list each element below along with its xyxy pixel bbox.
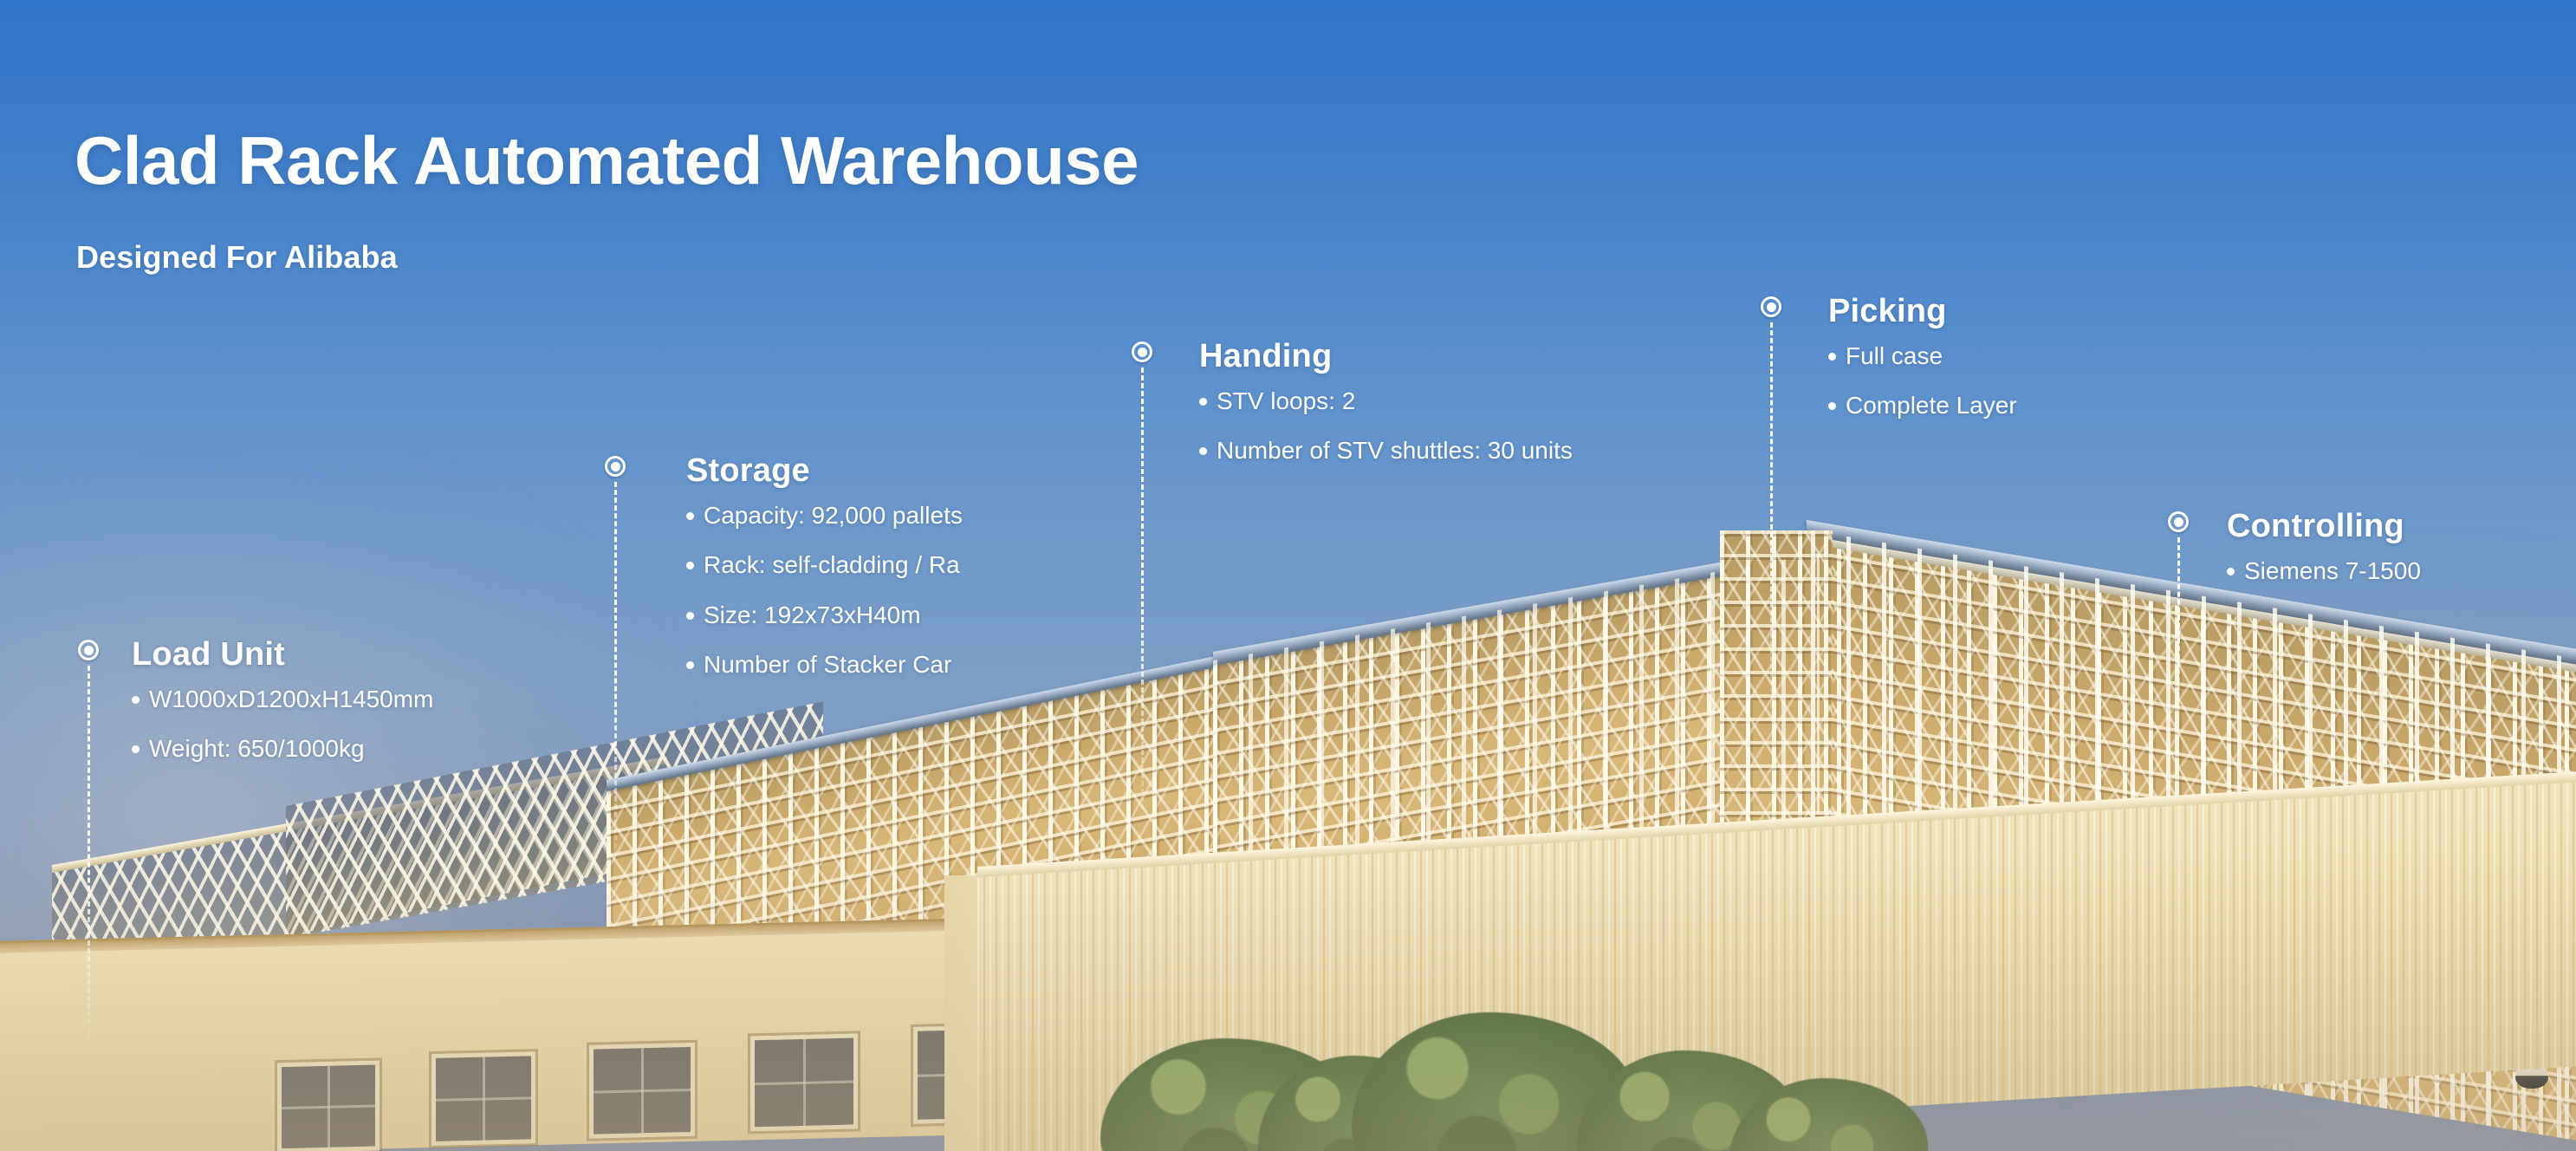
- warm-light-overlay: [0, 849, 2576, 1151]
- callout-title: Picking: [1828, 293, 2017, 330]
- bullet-icon: [132, 745, 140, 753]
- infographic-canvas: Clad Rack Automated Warehouse Designed F…: [0, 0, 2576, 1151]
- callout-bullets: Full case Complete Layer: [1828, 342, 2017, 420]
- callout-bullets: STV loops: 2 Number of STV shuttles: 30 …: [1199, 387, 1573, 465]
- bullet-text: Size: 192x73xH40m: [704, 602, 921, 628]
- page-subtitle: Designed For Alibaba: [76, 239, 398, 276]
- bullet-icon: [1199, 398, 1207, 406]
- bullet-icon: [686, 562, 694, 569]
- bullet-text: Number of Stacker Car: [704, 651, 951, 678]
- callout-bullets: Siemens 7-1500: [2227, 557, 2421, 585]
- page-title: Clad Rack Automated Warehouse: [75, 121, 1139, 200]
- bullet-text: Number of STV shuttles: 30 units: [1217, 437, 1573, 464]
- bullet-text: STV loops: 2: [1217, 387, 1355, 414]
- callout-bullets: W1000xD1200xH1450mm Weight: 650/1000kg: [132, 686, 433, 764]
- map-pin-icon[interactable]: [1761, 296, 1781, 317]
- callout-title: Load Unit: [132, 636, 433, 673]
- list-item: Number of STV shuttles: 30 units: [1199, 437, 1573, 465]
- callout-title: Controlling: [2227, 508, 2421, 545]
- list-item: W1000xD1200xH1450mm: [132, 686, 433, 713]
- map-pin-icon[interactable]: [2168, 511, 2189, 532]
- list-item: Siemens 7-1500: [2227, 557, 2421, 585]
- bullet-text: Capacity: 92,000 pallets: [704, 502, 963, 529]
- list-item: Size: 192x73xH40m: [686, 602, 963, 629]
- list-item: Full case: [1828, 342, 2017, 370]
- list-item: STV loops: 2: [1199, 387, 1573, 415]
- leader-line: [2177, 537, 2180, 721]
- map-pin-icon[interactable]: [605, 456, 626, 477]
- list-item: Number of Stacker Car: [686, 651, 963, 679]
- leader-line: [1770, 322, 1773, 732]
- map-pin-icon[interactable]: [1132, 341, 1152, 362]
- list-item: Rack: self-cladding / Ra: [686, 551, 963, 579]
- bullet-icon: [686, 512, 694, 520]
- bullet-icon: [1199, 447, 1207, 455]
- list-item: Capacity: 92,000 pallets: [686, 502, 963, 530]
- callout-title: Handing: [1199, 338, 1573, 375]
- bullet-text: Siemens 7-1500: [2244, 557, 2421, 584]
- bullet-icon: [686, 661, 694, 669]
- bullet-icon: [2227, 568, 2235, 575]
- map-pin-icon[interactable]: [78, 640, 99, 660]
- list-item: Weight: 650/1000kg: [132, 735, 433, 763]
- bullet-icon: [1828, 402, 1836, 410]
- bullet-text: Complete Layer: [1846, 392, 2017, 419]
- bullet-icon: [686, 612, 694, 620]
- bullet-text: Weight: 650/1000kg: [149, 735, 365, 762]
- bullet-text: Rack: self-cladding / Ra: [704, 551, 960, 578]
- bullet-icon: [1828, 353, 1836, 361]
- callout-title: Storage: [686, 452, 963, 490]
- list-item: Complete Layer: [1828, 392, 2017, 419]
- leader-line: [1141, 367, 1144, 825]
- leader-line: [614, 482, 617, 872]
- callout-bullets: Capacity: 92,000 pallets Rack: self-clad…: [686, 502, 963, 680]
- bullet-text: Full case: [1846, 342, 1943, 369]
- bullet-icon: [132, 696, 140, 704]
- bullet-text: W1000xD1200xH1450mm: [149, 686, 433, 712]
